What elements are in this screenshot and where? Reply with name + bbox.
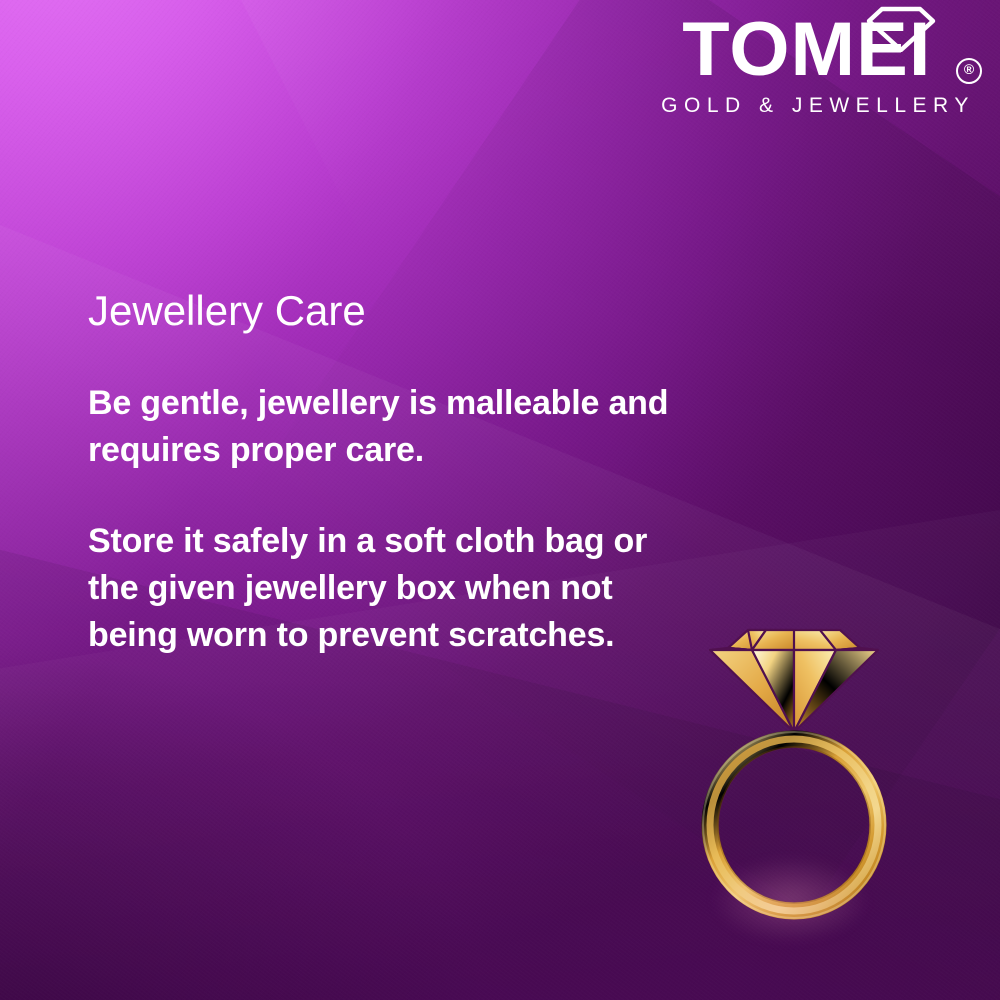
care-paragraph-1: Be gentle, jewellery is malleable and re… [88,380,688,474]
poster-canvas: TOMEI ® GOLD & JEWELLERY Jewellery Care … [0,0,1000,1000]
care-paragraph-2: Store it safely in a soft cloth bag or t… [88,518,688,659]
gem-icon [710,630,878,732]
registered-trademark-icon: ® [956,58,982,84]
brand-tagline: GOLD & JEWELLERY [650,94,980,118]
diamond-ring-illustration [670,620,910,940]
ring-glow [680,840,900,960]
page-title: Jewellery Care [88,286,688,336]
brand-logo: TOMEI ® GOLD & JEWELLERY [650,8,980,118]
copy-block: Jewellery Care Be gentle, jewellery is m… [88,286,688,659]
diamond-outline-icon [866,6,936,52]
brand-wordmark-row: TOMEI ® [650,8,980,92]
